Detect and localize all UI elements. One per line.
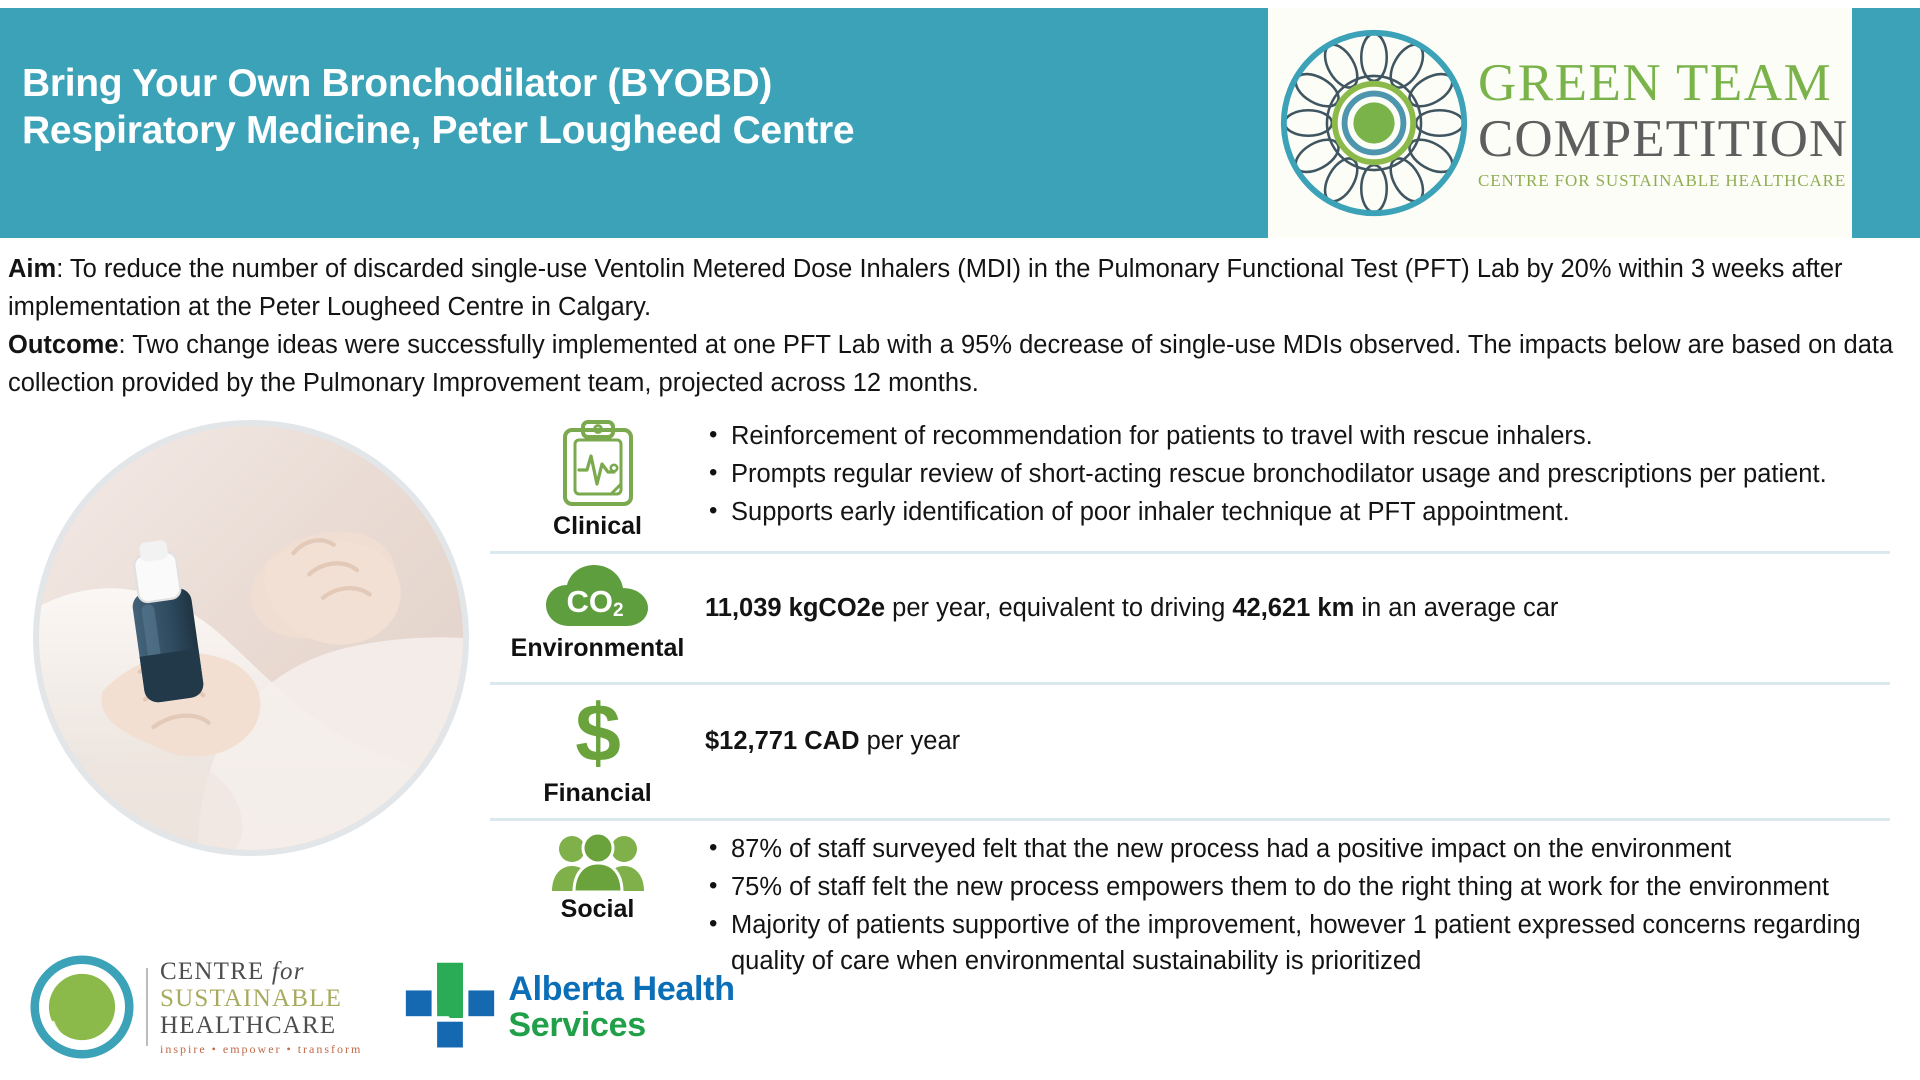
header-band-right-edge (1852, 8, 1920, 238)
impact-row-clinical: Clinical Reinforcement of recommendation… (490, 418, 1910, 541)
csh-for-text: for (272, 958, 305, 985)
divider-clinical (490, 551, 1890, 554)
outcome-label: Outcome (8, 331, 119, 359)
ahs-line-2: Services (508, 1008, 734, 1042)
aim-text: : To reduce the number of discarded sing… (8, 255, 1843, 321)
gtc-green-text: GREEN TEAM (1478, 55, 1848, 111)
outcome-paragraph: Outcome: Two change ideas were successfu… (8, 326, 1908, 402)
csh-line-1: CENTRE for (160, 959, 362, 984)
ahs-line-1: Alberta Health (508, 972, 734, 1006)
financial-tail-text: per year (860, 727, 961, 755)
ahs-cross-icon (404, 961, 496, 1053)
co2-cloud-icon: CO2 (543, 564, 653, 632)
people-group-icon (550, 831, 646, 893)
environmental-icon-block: CO2 Environmental (490, 564, 705, 663)
clinical-label: Clinical (553, 512, 642, 541)
sunflower-mandala-icon (1276, 25, 1472, 221)
outcome-text: : Two change ideas were successfully imp… (8, 331, 1893, 397)
financial-value: $12,771 CAD (705, 727, 860, 755)
clinical-body: Reinforcement of recommendation for pati… (705, 418, 1910, 532)
financial-body: $12,771 CAD per year (705, 695, 1910, 759)
csh-tagline: inspire • empower • transform (160, 1043, 362, 1055)
green-team-competition-logo: GREEN TEAM COMPETITION CENTRE FOR SUSTAI… (1268, 8, 1852, 238)
list-item: Majority of patients supportive of the i… (705, 907, 1910, 979)
list-item: Prompts regular review of short-acting r… (705, 456, 1910, 492)
photo-illustration (39, 426, 463, 850)
list-item: 75% of staff felt the new process empowe… (705, 869, 1910, 905)
environmental-mid-text: per year, equivalent to driving (885, 594, 1232, 622)
csh-divider (146, 968, 148, 1046)
csh-centre-text: CENTRE (160, 958, 264, 985)
page-title: Bring Your Own Bronchodilator (BYOBD) Re… (22, 60, 1222, 154)
gtc-tagline: CENTRE FOR SUSTAINABLE HEALTHCARE (1478, 171, 1848, 191)
csh-line-2: SUSTAINABLE (160, 986, 362, 1011)
gtc-wordmark: GREEN TEAM COMPETITION CENTRE FOR SUSTAI… (1478, 55, 1848, 191)
impact-row-environmental: CO2 Environmental 11,039 kgCO2e per year… (490, 564, 1910, 672)
alberta-health-services-logo: Alberta Health Services (404, 961, 734, 1053)
environmental-value-2: 42,621 km (1232, 594, 1354, 622)
patient-inhaler-photo (33, 420, 469, 856)
environmental-body: 11,039 kgCO2e per year, equivalent to dr… (705, 564, 1910, 626)
list-item: Supports early identification of poor in… (705, 494, 1910, 530)
financial-label: Financial (543, 779, 651, 808)
title-line-2: Respiratory Medicine, Peter Lougheed Cen… (22, 107, 1222, 154)
impact-row-financial: $ Financial $12,771 CAD per year (490, 695, 1910, 808)
ahs-wordmark: Alberta Health Services (508, 972, 734, 1042)
list-item: 87% of staff surveyed felt that the new … (705, 831, 1910, 867)
social-label: Social (561, 895, 635, 924)
gtc-gray-text: COMPETITION (1478, 111, 1848, 167)
divider-financial (490, 818, 1890, 821)
environmental-label: Environmental (511, 634, 685, 663)
csh-line-3: HEALTHCARE (160, 1013, 362, 1038)
clipboard-ecg-icon (557, 418, 639, 510)
title-line-1: Bring Your Own Bronchodilator (BYOBD) (22, 60, 1222, 107)
aim-label: Aim (8, 255, 56, 283)
divider-environmental (490, 682, 1890, 685)
environmental-tail-text: in an average car (1354, 594, 1558, 622)
financial-icon-block: $ Financial (490, 695, 705, 808)
dollar-glyph: $ (575, 695, 621, 777)
csh-wordmark: CENTRE for SUSTAINABLE HEALTHCARE inspir… (160, 959, 362, 1055)
social-body: 87% of staff surveyed felt that the new … (705, 831, 1910, 981)
impact-rows: Clinical Reinforcement of recommendation… (490, 418, 1910, 981)
intro-text: Aim: To reduce the number of discarded s… (8, 250, 1908, 402)
clinical-bullet-list: Reinforcement of recommendation for pati… (705, 418, 1910, 530)
social-icon-block: Social (490, 831, 705, 924)
social-bullet-list: 87% of staff surveyed felt that the new … (705, 831, 1910, 979)
environmental-value-1: 11,039 kgCO2e (705, 594, 885, 622)
aim-paragraph: Aim: To reduce the number of discarded s… (8, 250, 1908, 326)
infographic-page: Bring Your Own Bronchodilator (BYOBD) Re… (0, 0, 1920, 1080)
dollar-sign-icon: $ (562, 695, 634, 777)
csh-logo: CENTRE for SUSTAINABLE HEALTHCARE inspir… (30, 955, 362, 1059)
footer-logos: CENTRE for SUSTAINABLE HEALTHCARE inspir… (30, 955, 735, 1059)
clinical-icon-block: Clinical (490, 418, 705, 541)
list-item: Reinforcement of recommendation for pati… (705, 418, 1910, 454)
csh-circle-icon (30, 955, 134, 1059)
